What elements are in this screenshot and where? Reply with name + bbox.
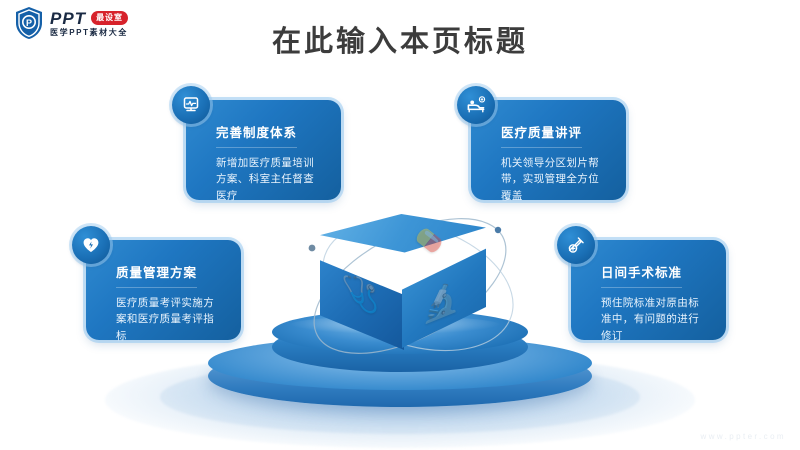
- card-title: 质量管理方案: [116, 262, 197, 288]
- card-body: 机关领导分区划片帮带，实现管理全方位覆盖: [501, 155, 609, 204]
- card-title: 完善制度体系: [216, 122, 297, 148]
- feature-card-4[interactable]: 日间手术标准 预住院标准对原由标准中，有问题的进行修订: [571, 240, 726, 340]
- card-title: 日间手术标准: [601, 262, 682, 288]
- footer-watermark: www.ppter.com: [701, 432, 786, 441]
- card-body: 预住院标准对原由标准中，有问题的进行修订: [601, 295, 709, 344]
- medical-monitor-icon: [172, 86, 210, 124]
- feature-card-3[interactable]: 质量管理方案 医疗质量考评实施方案和医疗质量考评指标: [86, 240, 241, 340]
- 3d-cube: 💊 🩺 🔬: [318, 214, 486, 364]
- page-title: 在此输入本页标题: [0, 18, 800, 60]
- slide-canvas: 💊 🩺 🔬 P PPT 最设室 医学PPT素材大全 在此输入本页标题: [0, 0, 800, 450]
- feature-card-2[interactable]: 医疗质量讲评 机关领导分区划片帮带，实现管理全方位覆盖: [471, 100, 626, 200]
- feature-card-1[interactable]: 完善制度体系 新增加医疗质量培训方案、科室主任督查医疗: [186, 100, 341, 200]
- hospital-bed-icon: [457, 86, 495, 124]
- syringe-icon: [557, 226, 595, 264]
- card-title: 医疗质量讲评: [501, 122, 582, 148]
- card-body: 新增加医疗质量培训方案、科室主任督查医疗: [216, 155, 324, 204]
- card-body: 医疗质量考评实施方案和医疗质量考评指标: [116, 295, 224, 344]
- heart-defibrillator-icon: [72, 226, 110, 264]
